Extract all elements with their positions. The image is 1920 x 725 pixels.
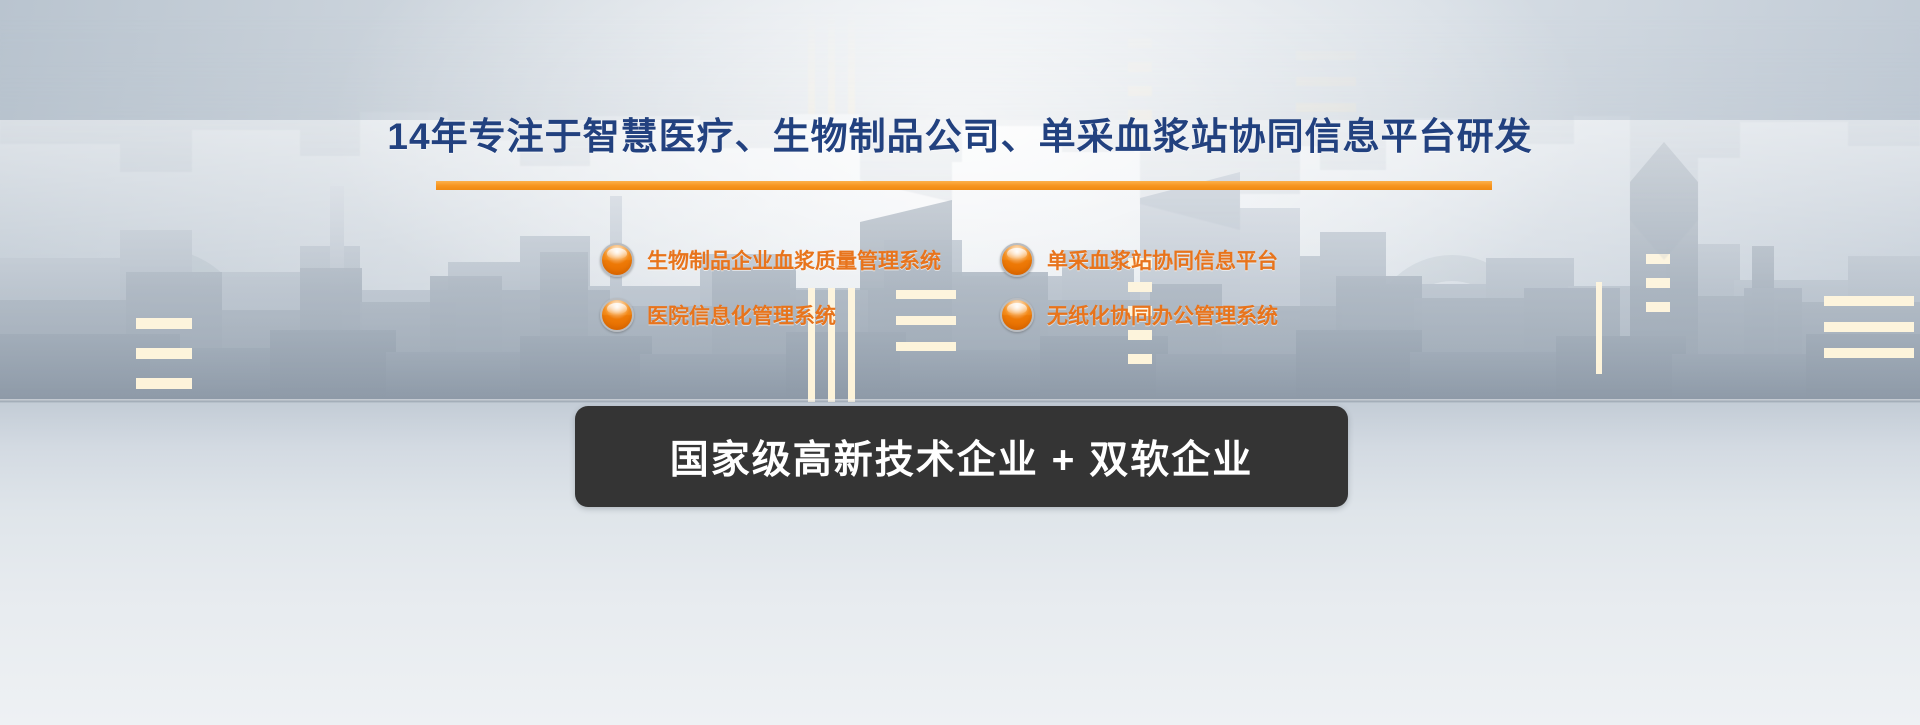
list-item[interactable]: 生物制品企业血浆质量管理系统 <box>600 232 1000 287</box>
page-title: 14年专注于智慧医疗、生物制品公司、单采血浆站协同信息平台研发 <box>0 106 1920 160</box>
title-underline-accent <box>436 181 1492 190</box>
list-item[interactable]: 单采血浆站协同信息平台 <box>1000 232 1360 287</box>
feature-label: 无纸化协同办公管理系统 <box>1047 300 1278 330</box>
list-item[interactable]: 无纸化协同办公管理系统 <box>1000 287 1360 342</box>
certification-badge: 国家级高新技术企业 + 双软企业 <box>575 406 1348 507</box>
feature-list: 生物制品企业血浆质量管理系统 单采血浆站协同信息平台 医院信息化管理系统 无纸化… <box>600 232 1360 342</box>
horizon-line <box>0 399 1920 403</box>
hero-banner: 14年专注于智慧医疗、生物制品公司、单采血浆站协同信息平台研发 生物制品企业血浆… <box>0 0 1920 725</box>
feature-label: 医院信息化管理系统 <box>647 300 836 330</box>
badge-text: 国家级高新技术企业 + 双软企业 <box>670 429 1253 485</box>
feature-label: 生物制品企业血浆质量管理系统 <box>647 245 941 275</box>
list-item[interactable]: 医院信息化管理系统 <box>600 287 1000 342</box>
orange-sphere-bullet-icon <box>1000 298 1034 332</box>
feature-label: 单采血浆站协同信息平台 <box>1047 245 1278 275</box>
orange-sphere-bullet-icon <box>1000 243 1034 277</box>
orange-sphere-bullet-icon <box>600 298 634 332</box>
orange-sphere-bullet-icon <box>600 243 634 277</box>
